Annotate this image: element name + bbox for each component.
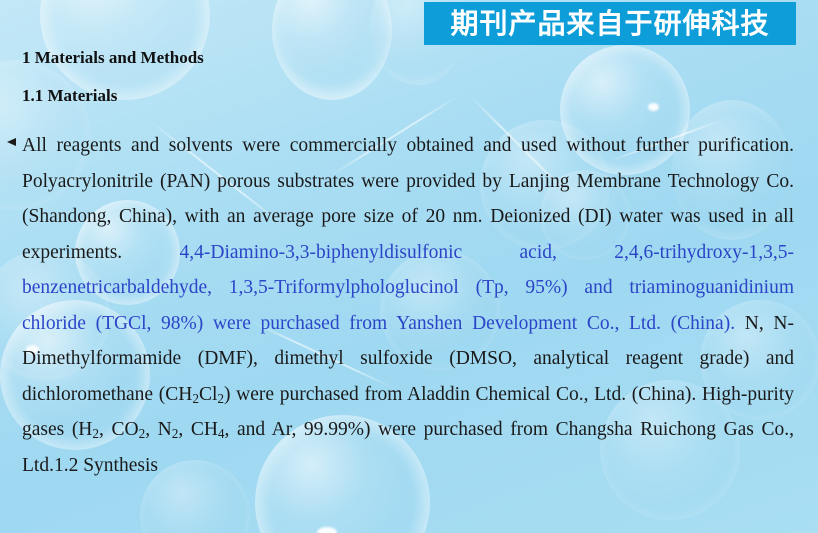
section-heading: 1 Materials and Methods (22, 48, 204, 68)
slide-content: 1 Materials and Methods 1.1 Materials Al… (0, 0, 818, 533)
body-segment-plain-2e: , N (145, 419, 172, 440)
triangle-bullet-icon (7, 138, 16, 146)
body-paragraph: All reagents and solvents were commercia… (22, 128, 794, 483)
subscript-ch4: 4 (218, 426, 225, 441)
subscript-cl2: 2 (217, 390, 224, 405)
body-paragraph-block: All reagents and solvents were commercia… (22, 128, 794, 483)
subsection-heading: 1.1 Materials (22, 86, 117, 106)
subscript-ch2: 2 (192, 390, 199, 405)
body-segment-plain-2d: , CO (99, 419, 139, 440)
slide-canvas: 期刊产品来自于研伸科技 1 Materials and Methods 1.1 … (0, 0, 818, 533)
body-segment-plain-2f: , CH (178, 419, 218, 440)
body-segment-plain-2b: Cl (199, 384, 217, 405)
